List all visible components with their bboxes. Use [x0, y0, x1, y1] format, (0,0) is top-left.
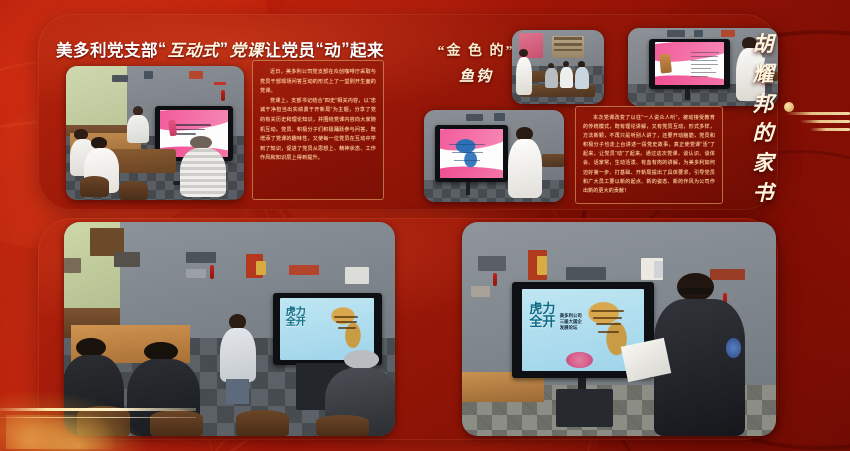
- photo-scene: [66, 66, 244, 200]
- photo-display-screen: [435, 125, 508, 182]
- photo-person-speaker: [127, 106, 150, 146]
- quote-open: “: [158, 40, 167, 59]
- caption-golden-hook: “金 色 的” 鱼钩: [430, 40, 522, 92]
- page-title-emph: 动: [324, 37, 341, 61]
- caption-line-2: 鱼钩: [430, 65, 522, 86]
- photo-member-storytelling-standing: [512, 30, 604, 104]
- caption-char: 的: [753, 123, 774, 144]
- glasses-icon: [679, 288, 712, 295]
- article-paragraph: 本次党课改变了以往“一人说众人听”，被动接受教育的传统模式，既有理论讲解，又有党…: [583, 114, 715, 196]
- gold-dot-icon: [784, 102, 794, 112]
- caption-char: 邦: [753, 94, 774, 115]
- quote2-close: ”: [341, 40, 350, 59]
- caption-char: 耀: [753, 64, 774, 85]
- quote2-open: “: [316, 40, 325, 59]
- page-title-brush2: 党课: [229, 37, 265, 61]
- article-text-right: 本次党课改变了以往“一人说众人听”，被动接受教育的传统模式，既有理论讲解，又有党…: [575, 106, 723, 204]
- sleeve-badge: [726, 338, 741, 358]
- page-title-part4: 起来: [350, 37, 384, 61]
- photo-person-audience: [575, 61, 590, 89]
- caption-line-1: “金 色 的”: [430, 40, 522, 60]
- article-paragraph: 近日，美多利公司党支部在众创咖啡厅采取与党员干部现场问答互动的形式上了一堂别开生…: [260, 68, 376, 97]
- photo-interactive-party-class-discussion: [66, 66, 244, 200]
- article-paragraph: 党课上，支部书记结合“四史”相关内容，以“忠诚干净担当出实绩勇于开新局”为主题，…: [260, 97, 376, 164]
- page-title-part1: 美多利党支部: [56, 37, 158, 61]
- photo-member-presenting-illustration: [424, 110, 564, 202]
- quote-close: ”: [220, 40, 229, 59]
- photo-person-reader: [654, 273, 745, 436]
- screen-title-tiger: 虎力全开: [529, 302, 555, 328]
- caption-char: 书: [753, 183, 774, 204]
- photo-person-audience: [180, 136, 226, 198]
- gold-line-ornament: [784, 112, 850, 138]
- photo-display-screen: [649, 39, 730, 89]
- caption-char: 家: [753, 153, 774, 174]
- photo-scene: [424, 110, 564, 202]
- poster-canvas: 美多利党支部 “ 互动式 ” 党课 让党员 “ 动 ” 起来: [0, 0, 850, 451]
- photo-scene: 虎力全开 美多利公司三届大国企发展论坛: [462, 222, 776, 436]
- page-title-brush: 互动式: [167, 37, 220, 61]
- photo-person-presenter: [220, 314, 256, 404]
- photo-scene: 虎力全开: [64, 222, 395, 436]
- photo-secretary-reading-report: 虎力全开 美多利公司三届大国企发展论坛: [462, 222, 776, 436]
- page-title-part3: 让党员: [265, 37, 316, 61]
- photo-person-audience: [545, 63, 558, 88]
- caption-char: 胡: [753, 34, 774, 55]
- photo-person-speaker: [516, 49, 533, 95]
- photo-person-audience: [560, 61, 573, 88]
- screen-subtitle-forum: 美多利公司三届大国企发展论坛: [560, 313, 582, 331]
- photo-scene: [512, 30, 604, 104]
- caption-vertical-title: 胡 耀 邦 的 家 书: [744, 34, 782, 204]
- photo-audience-seated-on-stools: 虎力全开: [64, 222, 395, 436]
- article-text-left: 近日，美多利公司党支部在众创咖啡厅采取与党员干部现场问答互动的形式上了一堂别开生…: [252, 60, 384, 200]
- photo-person-presenter: [508, 127, 542, 199]
